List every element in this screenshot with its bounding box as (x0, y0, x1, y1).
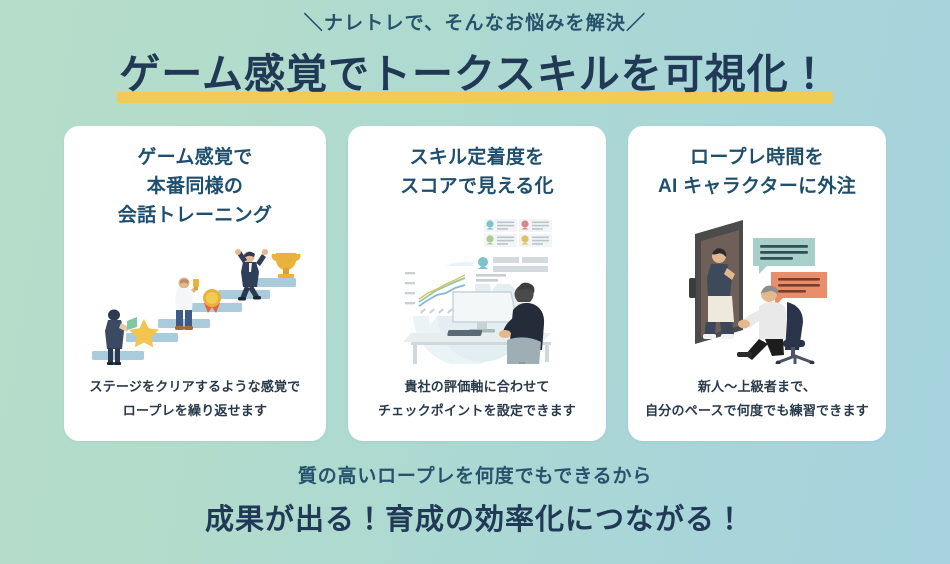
card-3-title-line-2: AI キャラクターに外注 (658, 173, 856, 202)
feature-card-3[interactable]: ロープレ時間を AI キャラクターに外注 (628, 126, 886, 441)
card-3-caption: 新人〜上級者まで、 自分のペースで何度でも練習できます (645, 375, 869, 429)
speech-bubble-teal (753, 238, 815, 274)
footer-subtext: 質の高いロープレを何度でもできるから (205, 465, 745, 490)
card-2-caption-line-2: チェックポイントを設定できます (378, 399, 576, 423)
card-2-title-line-1: スキル定着度を (400, 144, 554, 173)
card-3-title: ロープレ時間を AI キャラクターに外注 (658, 144, 856, 202)
headline-wrap: ゲーム感覚でトークスキルを可視化！ (109, 49, 841, 104)
card-2-title-line-2: スコアで見える化 (400, 173, 554, 202)
card-1-caption-line-2: ロープレを繰り返せます (90, 399, 301, 423)
card-1-caption: ステージをクリアするような感覚で ロープレを繰り返せます (90, 375, 301, 429)
desk-analytics-illustration (377, 214, 577, 364)
page-title: ゲーム感覚でトークスキルを可視化！ (109, 49, 841, 104)
speech-bubble-orange (771, 272, 827, 306)
feature-card-list: ゲーム感覚で 本番同様の 会話トレーニング (64, 126, 886, 441)
card-2-illustration-area (360, 202, 594, 375)
card-3-illustration-area (640, 202, 874, 375)
card-2-caption: 貴社の評価軸に合わせて チェックポイントを設定できます (378, 375, 576, 429)
feature-card-1[interactable]: ゲーム感覚で 本番同様の 会話トレーニング (64, 126, 326, 441)
footer: 質の高いロープレを何度でもできるから 成果が出る！育成の効率化につながる！ (205, 465, 745, 539)
card-1-title-line-3: 会話トレーニング (118, 202, 272, 231)
card-1-illustration-area (76, 231, 314, 375)
eyebrow-text: ＼ナレトレで、そんなお悩みを解決／ (0, 13, 950, 36)
promo-page: ＼ナレトレで、そんなお悩みを解決／ ゲーム感覚でトークスキルを可視化！ ゲーム感… (0, 0, 950, 564)
card-2-title: スキル定着度を スコアで見える化 (400, 144, 554, 202)
user-cards-panel (481, 216, 555, 250)
card-1-title: ゲーム感覚で 本番同様の 会話トレーニング (118, 144, 272, 231)
phone-roleplay-illustration (667, 214, 847, 364)
card-3-caption-line-2: 自分のペースで何度でも練習できます (645, 399, 869, 423)
header: ＼ナレトレで、そんなお悩みを解決／ ゲーム感覚でトークスキルを可視化！ (0, 0, 950, 104)
card-3-title-line-1: ロープレ時間を (658, 144, 856, 173)
feature-card-2[interactable]: スキル定着度を スコアで見える化 (348, 126, 606, 441)
card-1-title-line-2: 本番同様の (118, 173, 272, 202)
card-1-caption-line-1: ステージをクリアするような感覚で (90, 375, 301, 399)
staircase-climb-illustration (76, 241, 314, 367)
card-3-caption-line-1: 新人〜上級者まで、 (645, 375, 869, 399)
footer-headline: 成果が出る！育成の効率化につながる！ (205, 502, 745, 540)
card-2-caption-line-1: 貴社の評価軸に合わせて (378, 375, 576, 399)
card-1-title-line-1: ゲーム感覚で (118, 144, 272, 173)
